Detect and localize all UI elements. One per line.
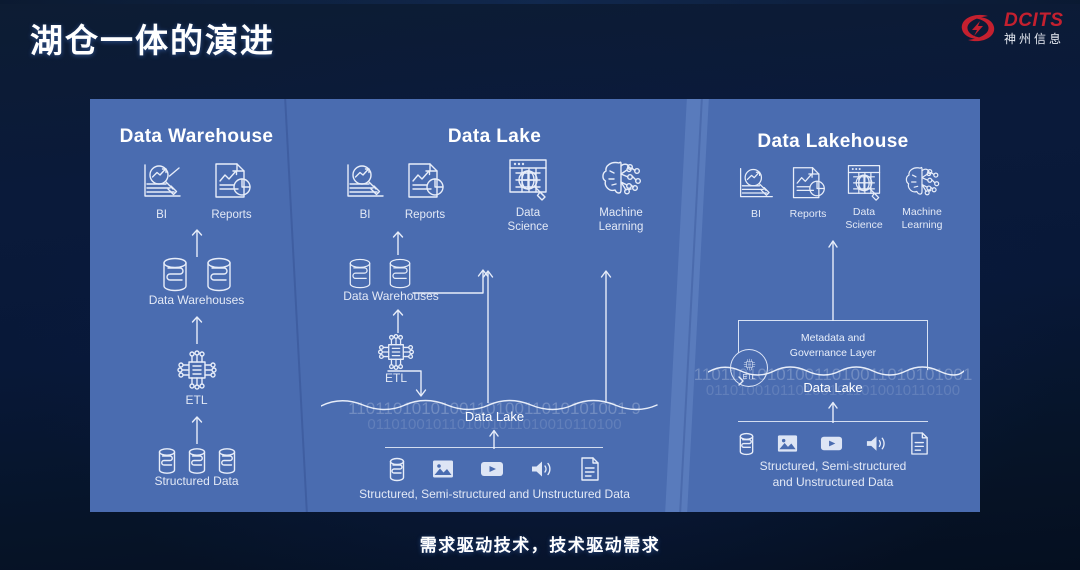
image-icon [776, 432, 799, 455]
flow-arrow-source-to-etl [190, 414, 204, 444]
warehouse-icon-group [90, 256, 303, 294]
flow-arrow-lakehouse-to-analytics [826, 237, 840, 321]
stage-label-mixed-sources: Structured, Semi-structured and Unstruct… [303, 487, 686, 502]
footer-tagline: 需求驱动技术，技术驱动需求 [0, 531, 1080, 556]
database-icon [186, 447, 208, 475]
video-icon [819, 432, 844, 455]
lake-to-ml-arrow [593, 265, 619, 403]
machine-learning-brain-icon [902, 163, 942, 201]
icon-item-machine-learning[interactable]: Machine Learning [583, 157, 659, 235]
machine-learning-brain-icon [598, 157, 644, 201]
icon-item-data-science[interactable]: Data Science [838, 163, 890, 232]
icon-item-reports[interactable]: Reports [784, 165, 832, 221]
stage-label-mixed-sources-line1: Structured, Semi-structured [686, 459, 980, 474]
multi-source-icon-group [732, 431, 934, 456]
flow-arrow-warehouses-to-analytics [391, 229, 405, 255]
icon-item-reports[interactable]: Reports [403, 161, 447, 222]
panel-data-lake: Data Lake BI [303, 99, 686, 512]
bi-magnifier-chart-icon [140, 161, 184, 203]
bi-magnifier-chart-icon [736, 165, 776, 203]
lake-to-data-science-arrow [475, 265, 501, 403]
database-cylinder-icon [158, 256, 192, 294]
logo-en-text: DCITS [1004, 11, 1064, 30]
metadata-line-2: Governance Layer [790, 346, 876, 360]
database-icon [156, 447, 178, 475]
lake-wave-line [708, 361, 964, 381]
reports-document-chart-icon [403, 161, 447, 203]
stage-label-etl: ETL [90, 393, 303, 408]
stage-label-data-warehouses: Data Warehouses [90, 293, 303, 308]
data-science-globe-icon [505, 157, 551, 201]
etl-icon-group [90, 347, 303, 393]
icon-item-bi[interactable]: BI [140, 161, 184, 222]
icon-item-data-science[interactable]: Data Science [495, 157, 561, 235]
icon-label-reports: Reports [790, 208, 827, 221]
flow-arrow-sources-to-lake [487, 427, 501, 449]
image-icon [431, 457, 455, 481]
icon-item-reports[interactable]: Reports [210, 161, 254, 222]
source-bus-line [738, 421, 928, 422]
icon-label-reports: Reports [405, 208, 445, 222]
icon-label-machine-learning: Machine Learning [583, 206, 659, 235]
audio-icon [529, 457, 555, 481]
stage-label-data-lake: Data Lake [303, 409, 686, 424]
reports-document-chart-icon [210, 161, 254, 203]
source-bus-line [385, 447, 603, 448]
document-icon [579, 456, 601, 482]
icon-label-machine-learning: Machine Learning [892, 206, 952, 232]
panel-title-data-lake: Data Lake [303, 126, 686, 148]
icon-label-data-science: Data Science [838, 206, 890, 232]
panel-data-warehouse: Data Warehouse BI [90, 99, 303, 512]
document-icon [909, 431, 930, 456]
analytics-icon-row: BI Reports [90, 161, 303, 222]
logo-cn-text: 神州信息 [1004, 33, 1064, 45]
icon-label-bi: BI [751, 208, 761, 221]
icon-label-bi: BI [156, 208, 167, 222]
stage-label-data-lake: Data Lake [686, 380, 980, 395]
data-science-globe-icon [844, 163, 884, 201]
database-icon [216, 447, 238, 475]
bi-magnifier-chart-icon [343, 161, 387, 203]
database-cylinder-icon [202, 256, 236, 294]
icon-label-reports: Reports [211, 208, 251, 222]
stage-label-structured-data: Structured Data [90, 474, 303, 489]
database-icon [737, 432, 756, 456]
page-title: 湖仓一体的演进 [30, 14, 275, 62]
icon-label-data-science: Data Science [495, 206, 561, 235]
metadata-line-1: Metadata and [801, 331, 865, 345]
reports-document-chart-icon [788, 165, 828, 203]
multi-source-icon-group [373, 456, 615, 482]
flow-arrow-warehouses-to-analytics [190, 227, 204, 257]
icon-item-bi[interactable]: BI [734, 165, 778, 221]
panel-data-lakehouse: Data Lakehouse BI [686, 99, 980, 512]
icon-label-bi: BI [360, 208, 371, 222]
structured-source-icon-group [90, 447, 303, 475]
etl-chip-icon [174, 347, 220, 393]
brand-logo: DCITS 神州信息 [958, 10, 1064, 46]
icon-item-bi[interactable]: BI [343, 161, 387, 222]
stage-label-mixed-sources-line2: and Unstructured Data [686, 475, 980, 490]
panel-title-data-lakehouse: Data Lakehouse [686, 131, 980, 153]
dcits-swoosh-icon [958, 10, 998, 46]
diagram-board: Data Warehouse BI [90, 99, 980, 512]
video-icon [479, 457, 505, 481]
panel-title-data-warehouse: Data Warehouse [90, 126, 303, 148]
database-icon [387, 457, 407, 482]
slide-canvas: 湖仓一体的演进 DCITS 神州信息 Data Warehouse [0, 0, 1080, 570]
flow-arrow-etl-to-warehouses [190, 314, 204, 344]
audio-icon [864, 432, 889, 455]
lake-to-analytics-connectors [343, 267, 683, 407]
icon-item-machine-learning[interactable]: Machine Learning [892, 163, 952, 232]
flow-arrow-sources-to-lakehouse [826, 399, 840, 423]
